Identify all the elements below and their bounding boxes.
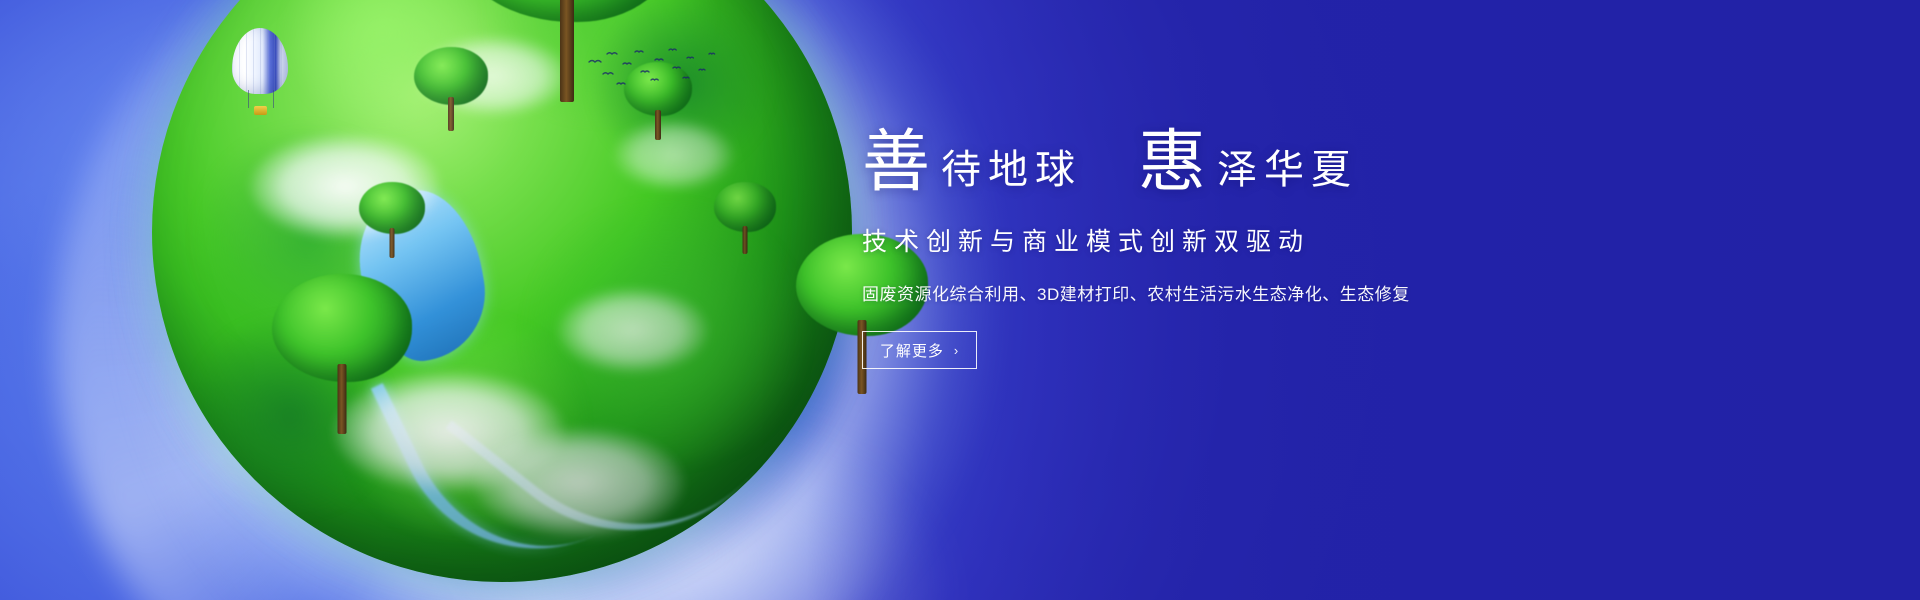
tree-left	[267, 274, 417, 434]
learn-more-button[interactable]: 了解更多 ›	[862, 331, 977, 369]
page-title: 善 待地球 惠 泽华夏	[862, 128, 1482, 196]
tree-trunk	[338, 364, 347, 434]
birds-svg	[585, 48, 725, 98]
tree-trunk	[560, 0, 574, 102]
balloon-ribs	[232, 28, 288, 94]
hero-subtitle: 技术创新与商业模式创新双驱动	[862, 222, 1482, 258]
headline-char-1: 善	[862, 128, 931, 196]
learn-more-label: 了解更多	[880, 340, 944, 361]
hero-description: 固废资源化综合利用、3D建材打印、农村生活污水生态净化、生态修复	[862, 280, 1482, 305]
headline-char-2: 惠	[1138, 128, 1207, 196]
chevron-right-icon: ›	[954, 343, 959, 358]
headline-rest-2: 泽华夏	[1217, 150, 1358, 190]
headline-rest-1: 待地球	[941, 150, 1082, 190]
hero-banner: 善 待地球 惠 泽华夏 技术创新与商业模式创新双驱动 固废资源化综合利用、3D建…	[0, 0, 1920, 600]
hero-text-block: 善 待地球 惠 泽华夏 技术创新与商业模式创新双驱动 固废资源化综合利用、3D建…	[862, 128, 1482, 369]
hot-air-balloon-icon	[232, 28, 292, 123]
birds-icon	[585, 48, 725, 98]
balloon-basket	[254, 106, 267, 115]
